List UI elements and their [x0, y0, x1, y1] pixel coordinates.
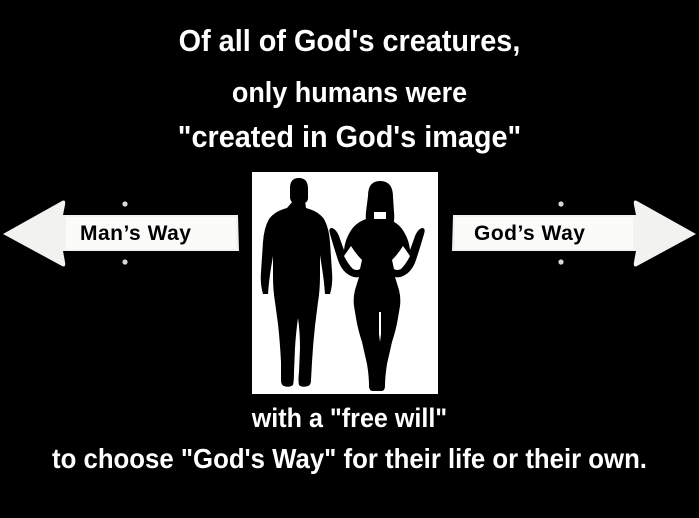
poster-canvas: Of all of God's creatures, only humans w…: [0, 0, 699, 518]
footer-line-2: to choose "God's Way" for their life or …: [28, 443, 671, 475]
sign-gods-way-label: God’s Way: [474, 222, 585, 246]
sign-rivet-bottom: [558, 259, 563, 264]
footer-line-1: with a "free will": [24, 403, 674, 434]
sign-rivet-top: [558, 201, 563, 206]
silhouettes-photo: [252, 172, 438, 394]
headline-line-1: Of all of God's creatures,: [24, 23, 674, 59]
headline-line-3: "created in God's image": [24, 119, 674, 155]
sign-mans-way-label: Man’s Way: [80, 222, 191, 246]
sign-rivet-bottom: [122, 259, 127, 264]
headline-line-2: only humans were: [24, 77, 674, 110]
sign-rivet-top: [122, 201, 127, 206]
